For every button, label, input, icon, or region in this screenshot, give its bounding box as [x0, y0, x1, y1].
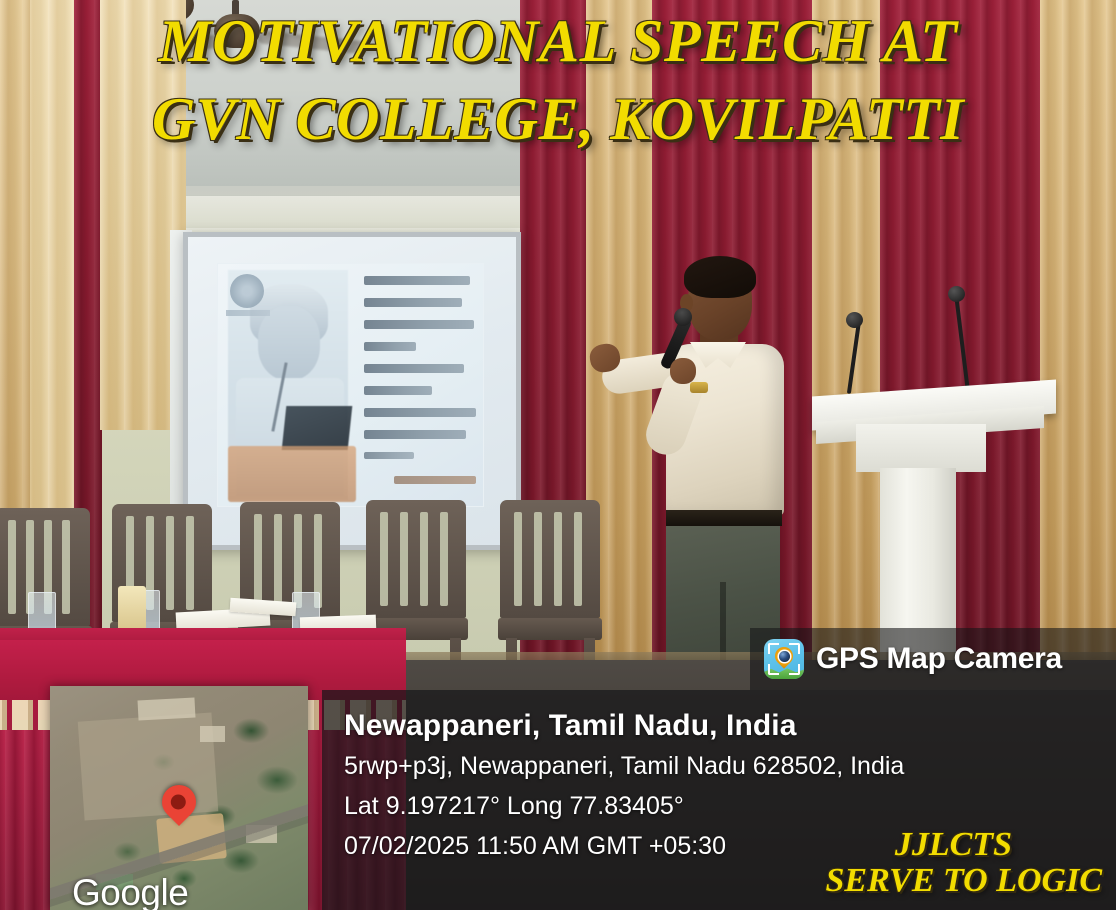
map-field-area — [78, 713, 219, 821]
watermark-line-1: JJLCTS — [895, 826, 1012, 864]
location-coordinates: Lat 9.197217° Long 77.83405° — [344, 786, 1116, 826]
speaker-person — [596, 262, 836, 682]
table-name-card — [118, 586, 146, 630]
watermark-line-2: SERVE TO LOGIC — [826, 862, 1103, 900]
chair-back — [500, 500, 600, 618]
projector-screen-surface — [188, 237, 516, 545]
projector-screen — [183, 232, 521, 550]
speaker-belt — [666, 510, 782, 526]
map-thumbnail[interactable]: Google — [50, 686, 308, 910]
slide-tamil-line-9 — [364, 452, 414, 459]
viewfinder-bracket-top-left-icon — [768, 643, 779, 654]
speaker-right-hand — [670, 358, 696, 384]
slide-emblem-caption — [226, 310, 270, 316]
slide-tamil-line-3 — [364, 320, 474, 329]
slide-signature-line — [394, 476, 476, 484]
viewfinder-bracket-top-right-icon — [789, 643, 800, 654]
slide-tamil-line-5 — [364, 364, 464, 373]
podium-mic-ball-2 — [948, 286, 965, 302]
podium-upper-box — [856, 424, 986, 472]
screenshot-root: MOTIVATIONAL SPEECH AT GVN COLLEGE, KOVI… — [0, 0, 1116, 910]
speaker-hair — [684, 256, 756, 298]
gps-map-camera-icon — [764, 639, 804, 679]
slide-tamil-line-4 — [364, 342, 416, 351]
presentation-slide — [217, 263, 484, 507]
slide-desk — [228, 446, 356, 502]
google-watermark: Google — [72, 872, 188, 910]
gps-app-name: GPS Map Camera — [816, 642, 1062, 676]
curtain-gold-far-right — [1040, 0, 1116, 700]
podium-mic-ball-1 — [846, 312, 863, 328]
location-place: Newappaneri, Tamil Nadu, India — [344, 706, 1116, 746]
gps-map-camera-badge: GPS Map Camera — [750, 628, 1116, 690]
wristwatch — [690, 382, 708, 393]
slide-tamil-line-7 — [364, 408, 476, 417]
slide-tamil-line-6 — [364, 386, 432, 395]
slide-emblem-icon — [230, 274, 264, 308]
viewfinder-bracket-bottom-right-icon — [789, 664, 800, 675]
chair-back — [366, 500, 466, 618]
slide-laptop — [282, 406, 353, 450]
location-address: 5rwp+p3j, Newappaneri, Tamil Nadu 628502… — [344, 746, 1116, 786]
map-building-1 — [137, 698, 195, 721]
map-building-2 — [200, 726, 226, 742]
slide-tamil-line-1 — [364, 276, 470, 285]
slide-tamil-line-2 — [364, 298, 462, 307]
slide-portrait-face — [258, 306, 320, 380]
slide-tamil-line-8 — [364, 430, 466, 439]
chair-seat — [498, 618, 602, 640]
viewfinder-bracket-bottom-left-icon — [768, 664, 779, 675]
